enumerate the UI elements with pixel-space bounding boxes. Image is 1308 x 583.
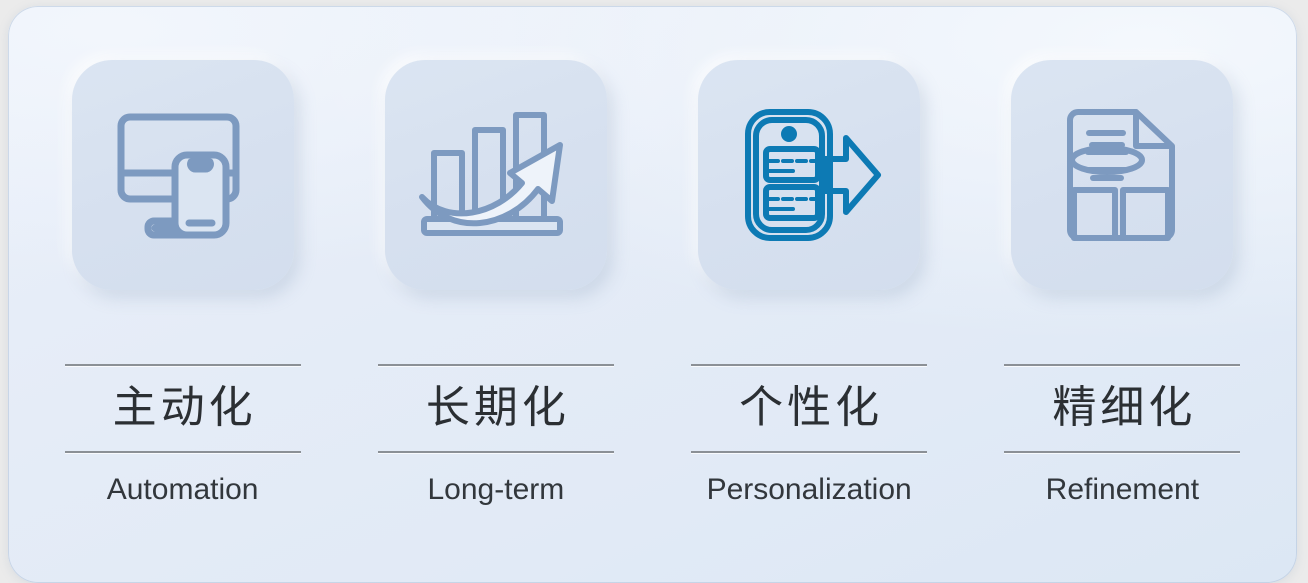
label-block-long-term: 长期化 Long-term xyxy=(378,364,614,505)
en-label: Automation xyxy=(107,475,259,505)
feature-card-panel: 主动化 Automation xyxy=(8,6,1297,583)
feature-item-long-term[interactable]: 长期化 Long-term xyxy=(339,6,652,583)
cn-label: 精细化 xyxy=(1048,366,1196,451)
label-block-personalization: 个性化 Personalization xyxy=(691,364,927,505)
cn-label: 主动化 xyxy=(109,366,257,451)
page-root: 主动化 Automation xyxy=(0,0,1308,583)
icon-tile-long-term[interactable] xyxy=(385,60,607,290)
icon-tile-personalization[interactable] xyxy=(698,60,920,290)
cn-label: 长期化 xyxy=(422,366,570,451)
growth-bar-chart-arrow-icon xyxy=(418,105,573,245)
label-block-automation: 主动化 Automation xyxy=(65,364,301,505)
divider-bottom xyxy=(378,451,614,453)
feature-item-refinement[interactable]: 精细化 Refinement xyxy=(966,6,1279,583)
en-label: Long-term xyxy=(428,475,565,505)
feature-item-personalization[interactable]: 个性化 Personalization xyxy=(653,6,966,583)
divider-bottom xyxy=(65,451,301,453)
feature-item-automation[interactable]: 主动化 Automation xyxy=(26,6,339,583)
document-layers-panels-icon xyxy=(1052,100,1192,250)
divider-bottom xyxy=(1004,451,1240,453)
phone-cards-arrow-right-icon xyxy=(734,100,884,250)
cn-label: 个性化 xyxy=(735,366,883,451)
label-block-refinement: 精细化 Refinement xyxy=(1004,364,1240,505)
icon-tile-automation[interactable] xyxy=(72,60,294,290)
monitor-and-phone-icon xyxy=(108,105,258,245)
en-label: Refinement xyxy=(1046,475,1199,505)
en-label: Personalization xyxy=(707,475,912,505)
divider-bottom xyxy=(691,451,927,453)
icon-tile-refinement[interactable] xyxy=(1011,60,1233,290)
feature-grid: 主动化 Automation xyxy=(8,6,1297,583)
